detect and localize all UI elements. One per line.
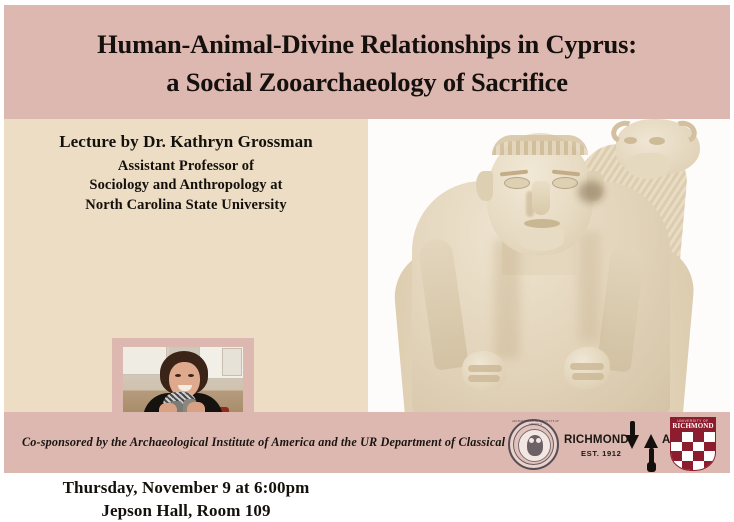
event-location: Jepson Hall, Room 109 (4, 500, 368, 522)
margin-top (0, 0, 734, 5)
speaker-name: Lecture by Dr. Kathryn Grossman (4, 132, 368, 152)
speaker-affiliation-line-2: Sociology and Anthropology at (4, 176, 368, 195)
trowel-up-grip (647, 462, 656, 472)
event-details: Thursday, November 9 at 6:00pm Jepson Ha… (4, 477, 368, 522)
speaker-affiliation-line-3: North Carolina State University (4, 196, 368, 215)
trowel-down-handle (630, 421, 635, 436)
event-poster: Human-Animal-Divine Relationships in Cyp… (0, 0, 734, 478)
ram-eye-left (624, 137, 637, 144)
photo-person-eye-left (175, 374, 181, 377)
footer-logos: ARCHAEOLOGICAL INSTITUTE OF AMERICA RICH… (504, 415, 726, 475)
figure-mouth (524, 219, 560, 228)
figure-finger-r1 (570, 363, 604, 370)
ur-banner-main-text: RICHMOND (672, 423, 713, 430)
ur-shield-icon (670, 431, 716, 471)
photo-person-eye-right (188, 374, 194, 377)
figure-finger-l2 (468, 375, 500, 382)
poster-left-column: Lecture by Dr. Kathryn Grossman Assistan… (4, 119, 368, 412)
event-date-time: Thursday, November 9 at 6:00pm (4, 477, 368, 500)
figure-eye-right (552, 177, 578, 189)
ur-banner: UNIVERSITY OF RICHMOND (670, 417, 716, 432)
trowel-down-blade (625, 435, 639, 449)
university-of-richmond-logo: UNIVERSITY OF RICHMOND (664, 417, 722, 473)
trowel-up-icon (644, 434, 658, 478)
figure-ear-left (476, 171, 493, 201)
cosponsor-text: Co-sponsored by the Archaeological Insti… (22, 435, 546, 450)
margin-bottom (0, 473, 734, 478)
trowel-up-blade (644, 434, 658, 448)
aia-seal-ring-text: ARCHAEOLOGICAL INSTITUTE OF AMERICA (510, 420, 561, 426)
richmond-established-text: EST. 1912 (581, 449, 621, 458)
trowel-down-icon (625, 421, 639, 463)
speaker-affiliation-line-1: Assistant Professor of (4, 157, 368, 176)
margin-right (730, 0, 734, 478)
speaker-block: Lecture by Dr. Kathryn Grossman Assistan… (4, 132, 368, 215)
figure-nose (532, 181, 550, 215)
poster-header: Human-Animal-Divine Relationships in Cyp… (4, 5, 730, 119)
page-title-line-1: Human-Animal-Divine Relationships in Cyp… (4, 29, 730, 60)
figure-finger-r2 (572, 373, 604, 380)
photo-cabinet-right-door (222, 348, 242, 376)
artwork-image (368, 119, 730, 412)
ram-eye-right (649, 137, 665, 145)
figure-chin (518, 229, 564, 251)
figure-eye-left (504, 177, 530, 189)
richmond-wordmark-text: RICHMOND (564, 434, 629, 446)
figure-finger-l1 (468, 365, 502, 372)
margin-left (0, 0, 4, 478)
page-title-line-2: a Social Zooarchaeology of Sacrifice (4, 67, 730, 98)
figure-shadow-right (578, 231, 600, 341)
ram-muzzle (626, 153, 670, 179)
ur-shield-checkers (671, 432, 715, 470)
stone-discoloration (578, 181, 604, 203)
aia-seal-center (518, 429, 551, 462)
aia-seal-icon: ARCHAEOLOGICAL INSTITUTE OF AMERICA (508, 419, 559, 470)
figure-hair-band (492, 135, 588, 155)
figure-shadow-left (494, 239, 520, 359)
owl-icon (527, 435, 543, 456)
